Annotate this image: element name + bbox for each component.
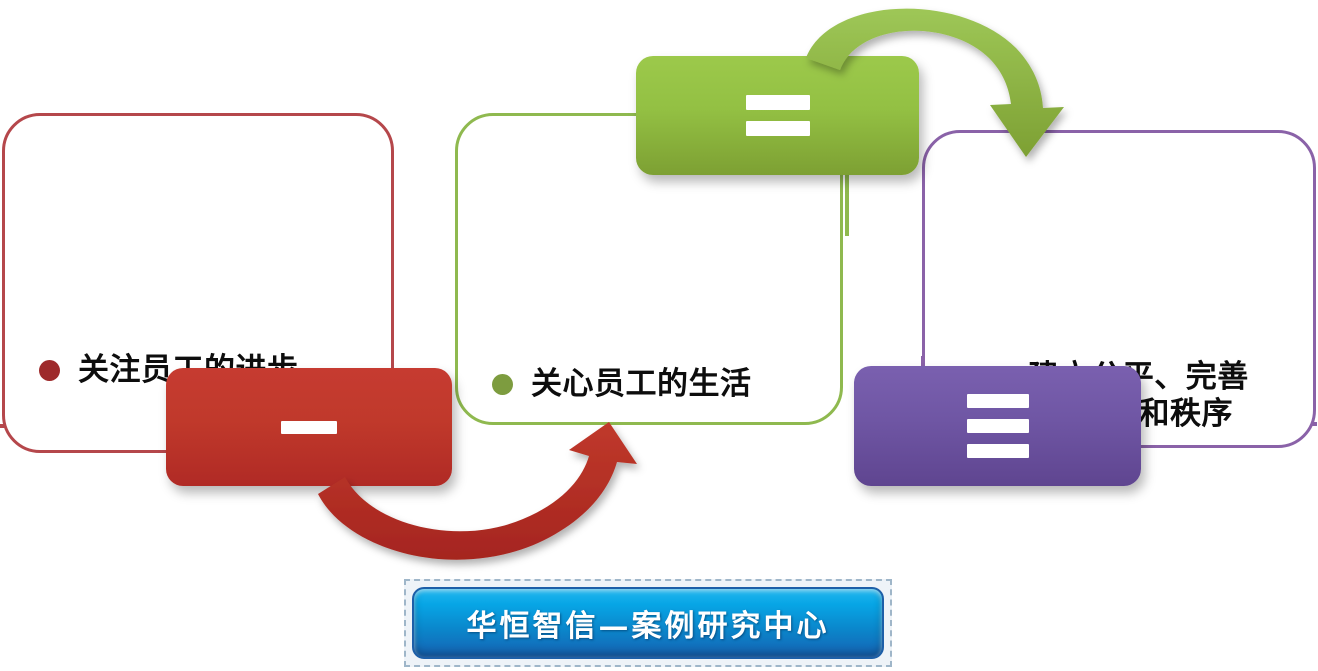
numeral-bar: [967, 394, 1029, 408]
footer-banner-text: 华恒智信—案例研究中心: [467, 601, 830, 645]
card-step-2-text: 关心员工的生活: [531, 366, 752, 403]
card-step-2-body: 关心员工的生活: [458, 366, 840, 403]
numeral-bar: [281, 421, 337, 434]
footer-banner-frame: 华恒智信—案例研究中心: [404, 579, 892, 667]
numeral-bar: [967, 419, 1029, 433]
numeral-bar: [967, 444, 1029, 458]
bullet-dot-icon: [492, 374, 513, 395]
connector-green-vertical: [845, 170, 849, 236]
number-chip-two[interactable]: [636, 56, 919, 175]
footer-banner[interactable]: 华恒智信—案例研究中心: [412, 587, 884, 659]
numeral-bar: [746, 121, 810, 136]
bullet-dot-icon: [39, 360, 60, 381]
numeral-bar: [746, 95, 810, 110]
slide-canvas: 关注员工的进步 关心员工的生活 建立公平、完善 的制度和秩序: [0, 0, 1318, 671]
number-chip-one[interactable]: [166, 368, 452, 486]
number-chip-three[interactable]: [854, 366, 1141, 486]
